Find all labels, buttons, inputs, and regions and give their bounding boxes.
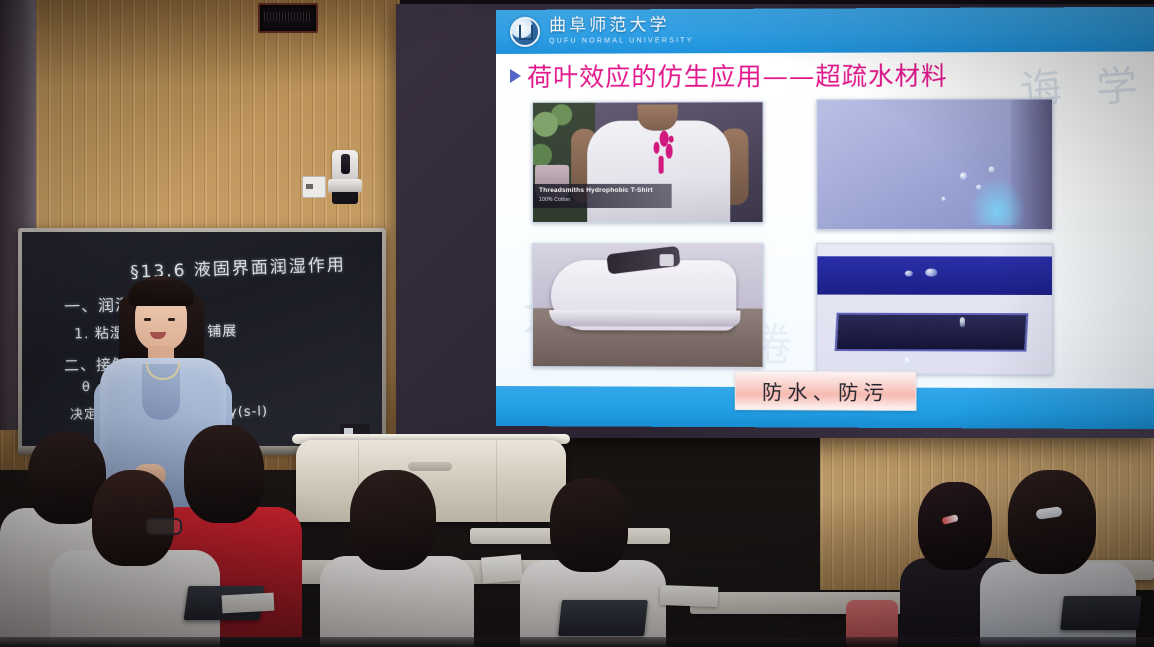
water-bead	[905, 270, 913, 276]
slide-image-grid: Threadsmiths Hydrophobic T-Shirt 100% Co…	[532, 100, 1137, 374]
tshirt-caption-line-1: Threadsmiths Hydrophobic T-Shirt	[539, 187, 653, 194]
camera-base-icon	[328, 179, 362, 193]
speaker-grill-icon	[264, 12, 312, 21]
instructor-eye-left	[144, 318, 151, 321]
water-bead	[976, 185, 981, 190]
water-bead	[960, 317, 965, 327]
recording-camera-icon	[326, 150, 364, 206]
student-head	[1008, 470, 1096, 574]
slide-image-glass	[816, 98, 1053, 230]
university-seal-icon	[510, 17, 540, 47]
slide-image-sneaker	[532, 243, 764, 368]
camera-head-icon	[332, 150, 358, 180]
water-bead	[988, 166, 994, 172]
student-center-left	[320, 470, 468, 647]
bottom-letterbox	[0, 637, 1154, 647]
paper-sheet	[222, 593, 275, 614]
lectern-seam-right	[496, 440, 497, 522]
slide-title: 荷叶效应的仿生应用——超疏水材料	[510, 56, 948, 94]
slide-header: 曲阜师范大学 QUFU NORMAL UNIVERSITY	[496, 7, 1154, 54]
tablet-device[interactable]	[558, 600, 648, 636]
lecture-capture-frame: §13.6 液固界面润湿作用 一、润湿的 1. 粘湿 2. 浸湿 3. 铺展 二…	[0, 0, 1154, 647]
student-head	[550, 478, 628, 572]
paper-sheet	[481, 554, 523, 583]
water-bead	[905, 357, 910, 365]
glasses-icon	[146, 518, 182, 535]
university-name-cn: 曲阜师范大学	[549, 17, 694, 36]
wall-speaker-icon	[258, 3, 318, 33]
slide-image-tshirt: Threadsmiths Hydrophobic T-Shirt 100% Co…	[532, 101, 764, 223]
slide-image-panel	[816, 243, 1053, 375]
camera-lens-icon	[341, 154, 350, 174]
slide-footer-tag: 防水、防污	[735, 371, 917, 411]
university-name-en: QUFU NORMAL UNIVERSITY	[549, 37, 694, 45]
av-wall-plate-icon	[302, 176, 326, 198]
instructor-eye-right	[168, 318, 175, 321]
model-neck	[637, 105, 677, 131]
presentation-slide: 曲阜师范大学 QUFU NORMAL UNIVERSITY 诲 学 不 倦 荷叶…	[496, 7, 1154, 429]
slide-title-text: 荷叶效应的仿生应用——超疏水材料	[527, 56, 948, 94]
instructor-fringe	[128, 280, 194, 306]
water-bead	[941, 197, 945, 201]
tshirt-caption-line-2: 100% Cotton	[539, 197, 570, 203]
tshirt-caption-bar: Threadsmiths Hydrophobic T-Shirt 100% Co…	[533, 184, 672, 208]
slide-body: 诲 学 不 倦 荷叶效应的仿生应用——超疏水材料	[496, 51, 1154, 388]
bullet-arrow-icon	[510, 69, 521, 83]
water-bead	[925, 268, 937, 276]
liquid-splash-icon	[652, 131, 678, 179]
student-head	[350, 470, 436, 570]
blue-panel-lower	[835, 313, 1029, 352]
projection-screen: 曲阜师范大学 QUFU NORMAL UNIVERSITY 诲 学 不 倦 荷叶…	[396, 4, 1154, 438]
sneaker-sole	[549, 310, 740, 327]
slide-footer: 防水、防污	[496, 386, 1154, 429]
paper-sheet	[660, 585, 719, 607]
student-left-front	[50, 470, 210, 647]
water-bead	[960, 173, 967, 180]
sneaker-buckle	[660, 254, 674, 266]
laptop-device[interactable]	[1060, 596, 1142, 630]
camera-mount-icon	[332, 192, 358, 204]
university-name-block: 曲阜师范大学 QUFU NORMAL UNIVERSITY	[549, 17, 694, 45]
